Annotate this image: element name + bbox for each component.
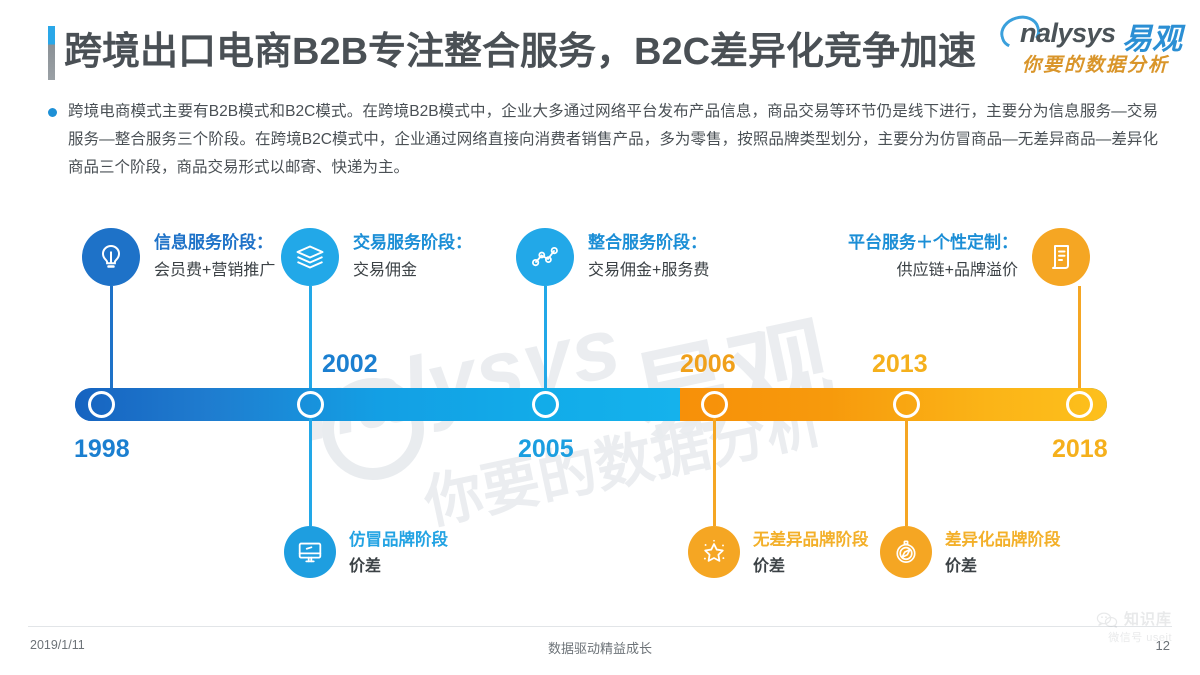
- timeline-year-2013: 2013: [872, 350, 928, 379]
- phase-heading: 整合服务阶段：: [588, 230, 709, 256]
- connector-stem-1998: [110, 286, 113, 392]
- phase-card-platform-service[interactable]: 平台服务＋个性定制： 供应链+品牌溢价: [848, 228, 1090, 286]
- monitor-icon: [284, 526, 336, 578]
- bottom-card-heading: 差异化品牌阶段: [945, 528, 1061, 552]
- phase-text: 交易服务阶段： 交易佣金: [353, 228, 472, 286]
- connector-stem-2006-down: [713, 418, 716, 526]
- compass-icon: [880, 526, 932, 578]
- title-accent-bar: [48, 26, 55, 80]
- analysys-logo: nalysys 易观 你要的数据分析: [994, 14, 1190, 80]
- bottom-card-counterfeit-brand[interactable]: 仿冒品牌阶段 价差: [284, 526, 448, 582]
- timeline-node-2013[interactable]: [893, 391, 920, 418]
- timeline-node-2002[interactable]: [297, 391, 324, 418]
- lead-paragraph-text: 跨境电商模式主要有B2B模式和B2C模式。在跨境B2B模式中，企业大多通过网络平…: [68, 98, 1158, 182]
- timeline-year-2006: 2006: [680, 350, 736, 379]
- connector-stem-2002-down: [309, 418, 312, 526]
- bottom-card-differentiated-brand[interactable]: 差异化品牌阶段 价差: [880, 526, 1061, 582]
- timeline-bar: [75, 388, 1107, 421]
- phase-text: 整合服务阶段： 交易佣金+服务费: [588, 228, 709, 286]
- bottom-card-heading: 仿冒品牌阶段: [349, 528, 448, 552]
- watermark-brand: nalysys: [293, 298, 629, 462]
- network-nodes-icon: [516, 228, 574, 286]
- phase-heading: 信息服务阶段：: [154, 230, 275, 256]
- phase-text: 信息服务阶段： 会员费+营销推广: [154, 228, 275, 286]
- bottom-card-subtext: 价差: [753, 552, 869, 582]
- bottom-card-subtext: 价差: [349, 552, 448, 582]
- bottom-card-text: 仿冒品牌阶段 价差: [349, 526, 448, 582]
- phase-heading: 交易服务阶段：: [353, 230, 472, 256]
- phase-subtext: 交易佣金+服务费: [588, 256, 709, 286]
- timeline-segment-blue: [75, 388, 680, 421]
- timeline-year-2018: 2018: [1052, 435, 1108, 464]
- timeline-year-2005: 2005: [518, 435, 574, 464]
- connector-stem-2013-down: [905, 418, 908, 526]
- phase-card-integrated-service[interactable]: 整合服务阶段： 交易佣金+服务费: [516, 228, 709, 286]
- bottom-card-text: 差异化品牌阶段 价差: [945, 526, 1061, 582]
- connector-stem-2002: [309, 286, 312, 392]
- phase-subtext: 会员费+营销推广: [154, 256, 275, 286]
- footer-page-number: 12: [1156, 638, 1170, 653]
- phase-text: 平台服务＋个性定制： 供应链+品牌溢价: [848, 228, 1018, 286]
- document-receipt-icon: [1032, 228, 1090, 286]
- footer-divider: [28, 626, 1172, 627]
- star-icon: [688, 526, 740, 578]
- bottom-card-undifferentiated-brand[interactable]: 无差异品牌阶段 价差: [688, 526, 869, 582]
- logo-tagline: 你要的数据分析: [1022, 50, 1169, 77]
- phase-subtext: 交易佣金: [353, 256, 472, 286]
- phase-heading: 平台服务＋个性定制：: [848, 230, 1018, 256]
- footer-slogan: 数据驱动精益成长: [0, 638, 1200, 657]
- layers-icon: [281, 228, 339, 286]
- bullet-dot-icon: [48, 108, 57, 117]
- timeline-year-2002: 2002: [322, 350, 378, 379]
- connector-stem-2005: [544, 286, 547, 392]
- timeline-node-2005[interactable]: [532, 391, 559, 418]
- lead-paragraph: 跨境电商模式主要有B2B模式和B2C模式。在跨境B2B模式中，企业大多通过网络平…: [48, 98, 1158, 182]
- bottom-card-heading: 无差异品牌阶段: [753, 528, 869, 552]
- phase-card-transaction-service[interactable]: 交易服务阶段： 交易佣金: [281, 228, 472, 286]
- watermark-ring-icon: [313, 369, 434, 490]
- bottom-card-subtext: 价差: [945, 552, 1061, 582]
- phase-subtext: 供应链+品牌溢价: [848, 256, 1018, 286]
- bottom-card-text: 无差异品牌阶段 价差: [753, 526, 869, 582]
- slide: nalysys 易观 你要的数据分析 跨境出口电商B2B专注整合服务，B2C差异…: [0, 0, 1200, 675]
- page-title: 跨境出口电商B2B专注整合服务，B2C差异化竞争加速: [64, 22, 976, 82]
- timeline-node-1998[interactable]: [88, 391, 115, 418]
- lightbulb-icon: [82, 228, 140, 286]
- phase-card-info-service[interactable]: 信息服务阶段： 会员费+营销推广: [82, 228, 275, 286]
- timeline-node-2006[interactable]: [701, 391, 728, 418]
- timeline-node-2018[interactable]: [1066, 391, 1093, 418]
- timeline-year-1998: 1998: [74, 435, 130, 464]
- logo-wordmark: nalysys: [1020, 18, 1116, 49]
- connector-stem-2018: [1078, 286, 1081, 392]
